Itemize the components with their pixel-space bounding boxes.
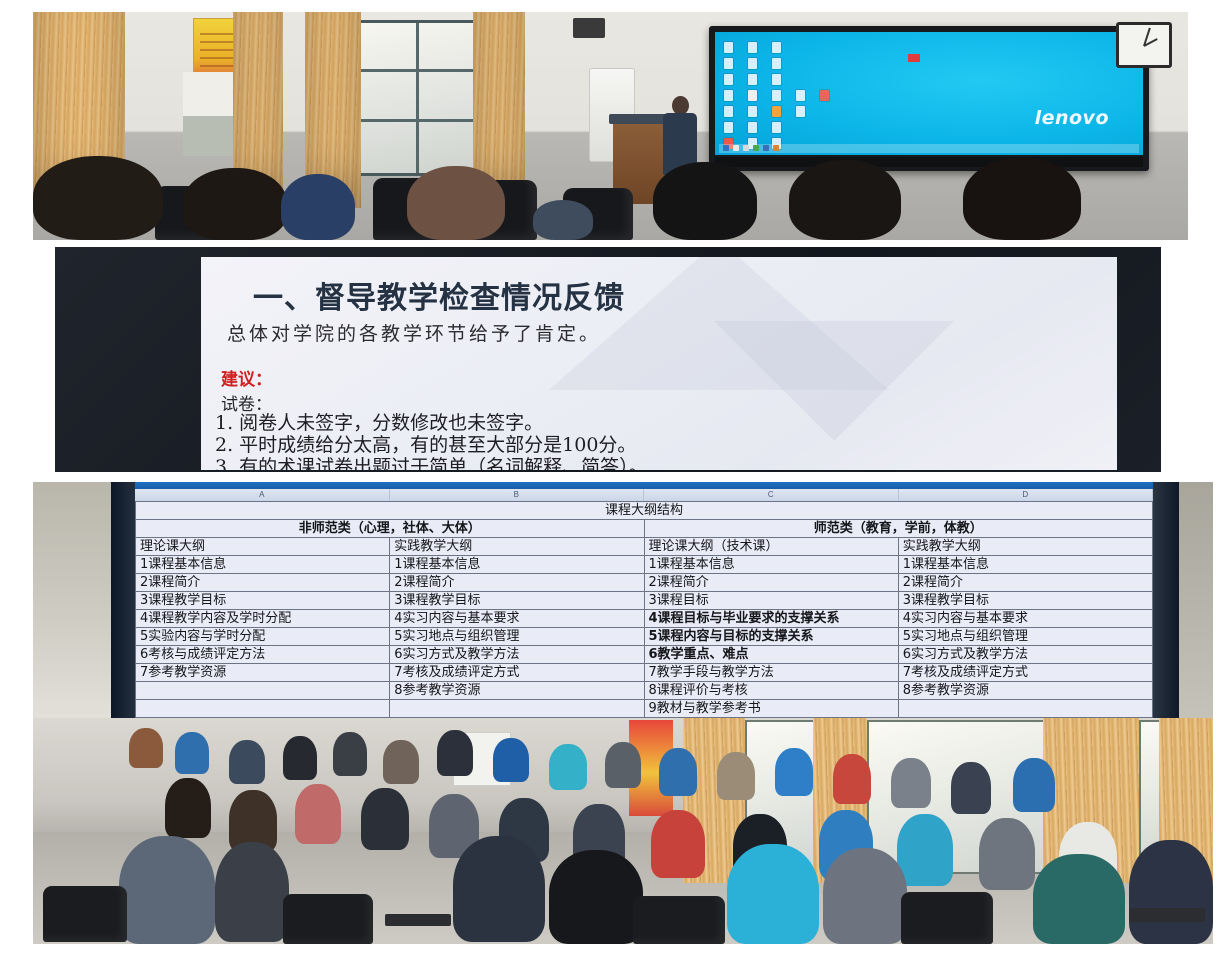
cell: 6实习方式及教学方法 bbox=[390, 646, 644, 664]
cell: 8参考教学资源 bbox=[898, 682, 1152, 700]
cell: 7教学手段与教学方法 bbox=[644, 664, 898, 682]
table-row: 5实验内容与学时分配 5实习地点与组织管理 5课程内容与目标的支撑关系 5实习地… bbox=[136, 628, 1153, 646]
attendee bbox=[549, 744, 587, 790]
attendee bbox=[659, 748, 697, 796]
attendee bbox=[333, 732, 367, 776]
cell: 4课程教学内容及学时分配 bbox=[136, 610, 390, 628]
desktop-alert-icon bbox=[908, 54, 920, 62]
table-row: 2课程简介 2课程简介 2课程简介 2课程简介 bbox=[136, 574, 1153, 592]
slide-list-item: 3. 有的术课试卷出题过于简单（名词解释、简答）。 bbox=[215, 456, 1109, 470]
attendee bbox=[1013, 758, 1055, 812]
photo-collage: lenovo bbox=[0, 0, 1227, 956]
cell: 1课程基本信息 bbox=[644, 556, 898, 574]
cell: 7考核及成绩评定方式 bbox=[390, 664, 644, 682]
table-row-title: 课程大纲结构 bbox=[136, 502, 1153, 520]
cell-empty bbox=[136, 700, 390, 718]
cell-highlighted: 5课程内容与目标的支撑关系 bbox=[644, 628, 898, 646]
cell: 5实习地点与组织管理 bbox=[898, 628, 1152, 646]
col-header-2: 理论课大纲（技术课） bbox=[644, 538, 898, 556]
cell: 7考核及成绩评定方式 bbox=[898, 664, 1152, 682]
spreadsheet-screen: A B C D 课程大纲结构 非师范类（心理，社体、大体） bbox=[135, 482, 1153, 718]
category-normal: 师范类（教育，学前，体教） bbox=[644, 520, 1153, 538]
slide-advice-label: 建议： bbox=[221, 365, 272, 390]
cell-highlighted: 6教学重点、难点 bbox=[644, 646, 898, 664]
desk-tablet bbox=[385, 914, 451, 926]
cell: 3课程教学目标 bbox=[390, 592, 644, 610]
table-title: 课程大纲结构 bbox=[136, 502, 1153, 520]
attendee-front bbox=[453, 836, 545, 942]
cell: 1课程基本信息 bbox=[390, 556, 644, 574]
spreadsheet-grid: 课程大纲结构 非师范类（心理，社体、大体） 师范类（教育，学前，体教） 理论课大… bbox=[135, 501, 1153, 718]
cell: 3课程目标 bbox=[644, 592, 898, 610]
attendee bbox=[229, 740, 265, 784]
attendee-front bbox=[549, 850, 643, 944]
col-header-3: 实践教学大纲 bbox=[898, 538, 1152, 556]
table-row: 1课程基本信息 1课程基本信息 1课程基本信息 1课程基本信息 bbox=[136, 556, 1153, 574]
seat bbox=[283, 894, 373, 944]
attendee bbox=[833, 754, 871, 804]
table-row: 9教材与教学参考书 bbox=[136, 700, 1153, 718]
seat bbox=[633, 896, 725, 944]
attendee bbox=[979, 818, 1035, 890]
room-wall-right bbox=[1179, 482, 1213, 718]
attendee-front bbox=[215, 842, 289, 942]
lenovo-logo: lenovo bbox=[1035, 107, 1109, 129]
category-non-normal: 非师范类（心理，社体、大体） bbox=[136, 520, 645, 538]
cell-highlighted: 4课程目标与毕业要求的支撑关系 bbox=[644, 610, 898, 628]
excel-ribbon-bar bbox=[135, 482, 1153, 489]
table-row: 3课程教学目标 3课程教学目标 3课程目标 3课程教学目标 bbox=[136, 592, 1153, 610]
cell: 5实习地点与组织管理 bbox=[390, 628, 644, 646]
attendee bbox=[891, 758, 931, 808]
attendee bbox=[175, 732, 209, 774]
photo-classroom-front: lenovo bbox=[33, 12, 1188, 240]
attendee-front bbox=[1129, 840, 1213, 944]
room-wall-left bbox=[33, 482, 111, 718]
attendee bbox=[383, 740, 419, 784]
attendee-front bbox=[119, 836, 215, 944]
column-header-b: B bbox=[390, 489, 645, 501]
attendee-front bbox=[1033, 854, 1125, 944]
cell: 2课程简介 bbox=[390, 574, 644, 592]
table-row: 7参考教学资源 7考核及成绩评定方式 7教学手段与教学方法 7考核及成绩评定方式 bbox=[136, 664, 1153, 682]
wall-clock-icon bbox=[1116, 22, 1172, 68]
cell: 5实验内容与学时分配 bbox=[136, 628, 390, 646]
col-header-1: 实践教学大纲 bbox=[390, 538, 644, 556]
desk-tablet bbox=[1129, 908, 1205, 922]
cell: 1课程基本信息 bbox=[136, 556, 390, 574]
display-screen: lenovo bbox=[715, 32, 1143, 155]
attendee bbox=[775, 748, 813, 796]
cell: 1课程基本信息 bbox=[898, 556, 1152, 574]
photo-audience bbox=[33, 718, 1213, 944]
wall-speaker-icon bbox=[573, 18, 605, 38]
attendee bbox=[493, 738, 529, 782]
cell: 8课程评价与考核 bbox=[644, 682, 898, 700]
attendee bbox=[651, 810, 705, 878]
attendee bbox=[437, 730, 473, 776]
attendee bbox=[295, 784, 341, 844]
cell-empty bbox=[136, 682, 390, 700]
cell: 2课程简介 bbox=[136, 574, 390, 592]
slide-subtitle: 总体对学院的各教学环节给予了肯定。 bbox=[227, 319, 601, 346]
screen-bezel-left bbox=[111, 482, 135, 718]
table-row: 4课程教学内容及学时分配 4实习内容与基本要求 4课程目标与毕业要求的支撑关系 … bbox=[136, 610, 1153, 628]
attendee bbox=[129, 728, 163, 768]
cell: 4实习内容与基本要求 bbox=[390, 610, 644, 628]
table-row: 8参考教学资源 8课程评价与考核 8参考教学资源 bbox=[136, 682, 1153, 700]
cell: 6实习方式及教学方法 bbox=[898, 646, 1152, 664]
cell-empty bbox=[898, 700, 1152, 718]
column-header-d: D bbox=[899, 489, 1154, 501]
slide-content: 一、督导教学检查情况反馈 总体对学院的各教学环节给予了肯定。 建议： 试卷： 1… bbox=[201, 257, 1117, 470]
screen-bezel-right bbox=[1153, 482, 1179, 718]
table-row-categories: 非师范类（心理，社体、大体） 师范类（教育，学前，体教） bbox=[136, 520, 1153, 538]
attendee bbox=[605, 742, 641, 788]
attendee bbox=[951, 762, 991, 814]
cell: 7参考教学资源 bbox=[136, 664, 390, 682]
desktop-icons bbox=[720, 38, 816, 138]
excel-column-headers: A B C D bbox=[135, 489, 1153, 501]
cell: 6考核与成绩评定方法 bbox=[136, 646, 390, 664]
cell-empty bbox=[390, 700, 644, 718]
table-row-headers: 理论课大纲 实践教学大纲 理论课大纲（技术课） 实践教学大纲 bbox=[136, 538, 1153, 556]
attendee bbox=[283, 736, 317, 780]
table-row: 6考核与成绩评定方法 6实习方式及教学方法 6教学重点、难点 6实习方式及教学方… bbox=[136, 646, 1153, 664]
seat bbox=[43, 886, 127, 942]
cell: 3课程教学目标 bbox=[898, 592, 1152, 610]
slide-list-item: 1. 阅卷人未签字，分数修改也未签字。 bbox=[215, 412, 1109, 434]
cell: 3课程教学目标 bbox=[136, 592, 390, 610]
cell: 4实习内容与基本要求 bbox=[898, 610, 1152, 628]
cell: 9教材与教学参考书 bbox=[644, 700, 898, 718]
seat bbox=[901, 892, 993, 944]
course-outline-table: 课程大纲结构 非师范类（心理，社体、大体） 师范类（教育，学前，体教） 理论课大… bbox=[135, 501, 1153, 718]
attendee-front bbox=[823, 848, 907, 944]
col-header-0: 理论课大纲 bbox=[136, 538, 390, 556]
attendee bbox=[361, 788, 409, 850]
column-header-c: C bbox=[644, 489, 899, 501]
attendee-front bbox=[727, 844, 819, 944]
slide-item-list: 1. 阅卷人未签字，分数修改也未签字。 2. 平时成绩给分太高，有的甚至大部分是… bbox=[215, 412, 1109, 470]
attendee bbox=[897, 814, 953, 886]
photo-course-outline-table: A B C D 课程大纲结构 非师范类（心理，社体、大体） bbox=[33, 482, 1213, 718]
column-header-a: A bbox=[135, 489, 390, 501]
cell: 2课程简介 bbox=[898, 574, 1152, 592]
photo-projected-slide: 一、督导教学检查情况反馈 总体对学院的各教学环节给予了肯定。 建议： 试卷： 1… bbox=[55, 247, 1161, 472]
cell: 8参考教学资源 bbox=[390, 682, 644, 700]
slide-title: 一、督导教学检查情况反馈 bbox=[253, 273, 625, 317]
front-row-seating bbox=[33, 148, 1188, 240]
attendee bbox=[717, 752, 755, 800]
cell: 2课程简介 bbox=[644, 574, 898, 592]
attendee bbox=[165, 778, 211, 838]
slide-list-item: 2. 平时成绩给分太高，有的甚至大部分是100分。 bbox=[215, 434, 1109, 456]
